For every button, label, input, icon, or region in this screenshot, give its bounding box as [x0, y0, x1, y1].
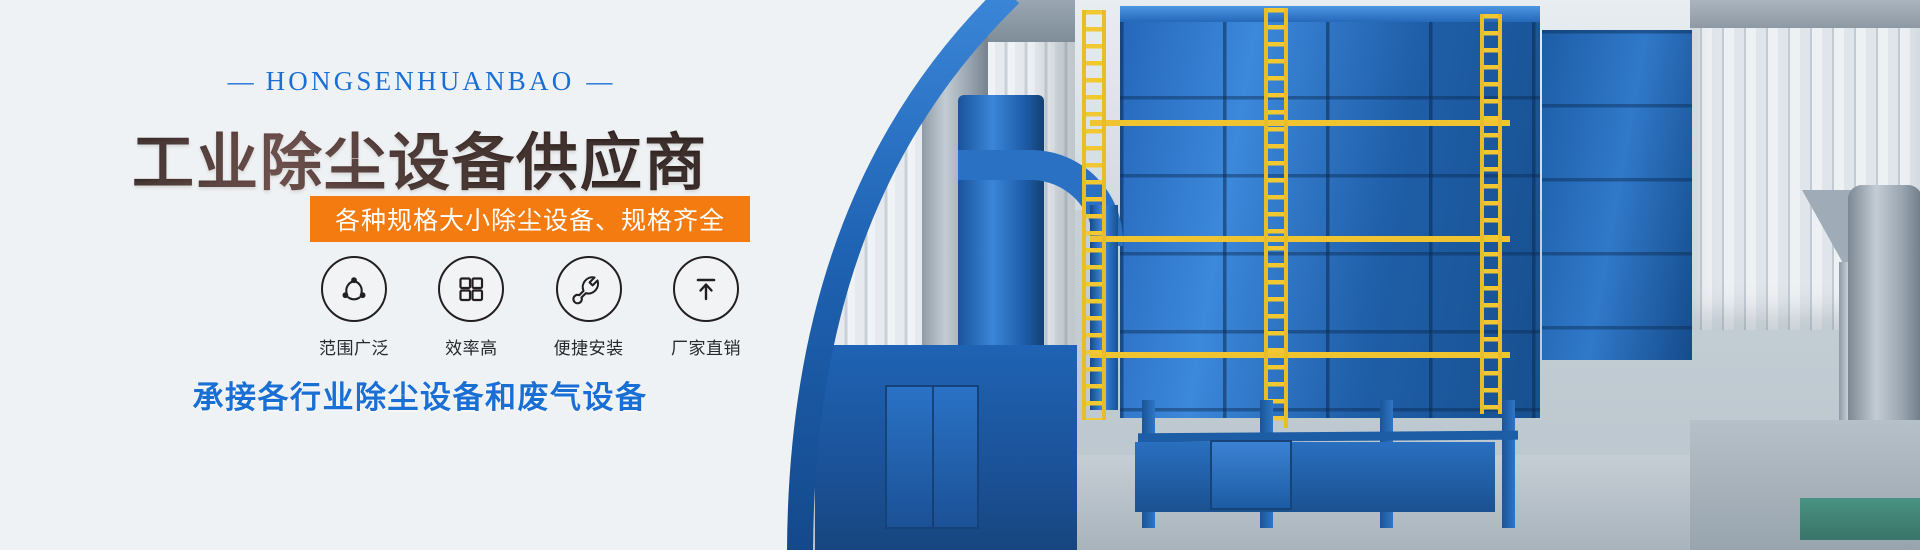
- blue-access-door: [1210, 440, 1292, 510]
- feature-label: 效率高: [417, 334, 525, 359]
- subtitle-text: 各种规格大小除尘设备、规格齐全: [335, 201, 725, 237]
- baghouse-roof-cap: [1120, 6, 1540, 22]
- feature-list: 范围广泛 效率高: [300, 256, 760, 359]
- support-leg: [1502, 400, 1515, 528]
- support-brace: [1138, 431, 1518, 443]
- feature-label: 厂家直销: [652, 334, 760, 359]
- feature-icon-circle: [321, 256, 387, 322]
- yellow-ladder: [1082, 10, 1106, 420]
- eyebrow-text: HONGSENHUANBAO: [266, 66, 575, 96]
- feature-icon-circle: [556, 256, 622, 322]
- brand-eyebrow: —HONGSENHUANBAO—: [0, 66, 840, 97]
- feature-icon-circle: [438, 256, 504, 322]
- yellow-railing: [1090, 236, 1510, 242]
- yellow-ladder: [1480, 14, 1502, 414]
- secondary-baghouse-unit: [1542, 30, 1692, 360]
- share-nodes-icon: [337, 272, 371, 306]
- hero-banner: —HONGSENHUANBAO— 工业除尘设备供应商 各种规格大小除尘设备、规格…: [0, 0, 1920, 550]
- feature-label: 便捷安装: [535, 334, 643, 359]
- feature-item-scope[interactable]: 范围广泛: [300, 256, 408, 359]
- feature-item-direct-sales[interactable]: 厂家直销: [652, 256, 760, 359]
- eyebrow-dash-left: —: [228, 67, 254, 97]
- large-metal-tank: [1848, 185, 1920, 435]
- green-fence: [1800, 498, 1920, 540]
- yellow-railing: [1090, 352, 1510, 358]
- yellow-ladder: [1264, 8, 1288, 428]
- blue-base-structure: [1135, 442, 1495, 512]
- wrench-icon: [571, 271, 607, 307]
- hero-content: —HONGSENHUANBAO— 工业除尘设备供应商 各种规格大小除尘设备、规格…: [0, 0, 900, 550]
- yellow-railing: [1090, 120, 1510, 126]
- right-metal-building-roof: [1690, 0, 1920, 28]
- feature-icon-circle: [673, 256, 739, 322]
- baghouse-dust-collector: [1120, 18, 1540, 418]
- feature-label: 范围广泛: [300, 334, 408, 359]
- hero-tagline: 承接各行业除尘设备和废气设备: [0, 372, 840, 417]
- subtitle-orange-bar: 各种规格大小除尘设备、规格齐全: [310, 196, 750, 242]
- page-title: 工业除尘设备供应商: [0, 112, 840, 202]
- eyebrow-dash-right: —: [586, 67, 612, 97]
- upload-arrow-icon: [689, 272, 723, 306]
- feature-item-installation[interactable]: 便捷安装: [535, 256, 643, 359]
- feature-item-efficiency[interactable]: 效率高: [417, 256, 525, 359]
- grid-four-squares-icon: [454, 272, 488, 306]
- factory-photo: [790, 0, 1920, 550]
